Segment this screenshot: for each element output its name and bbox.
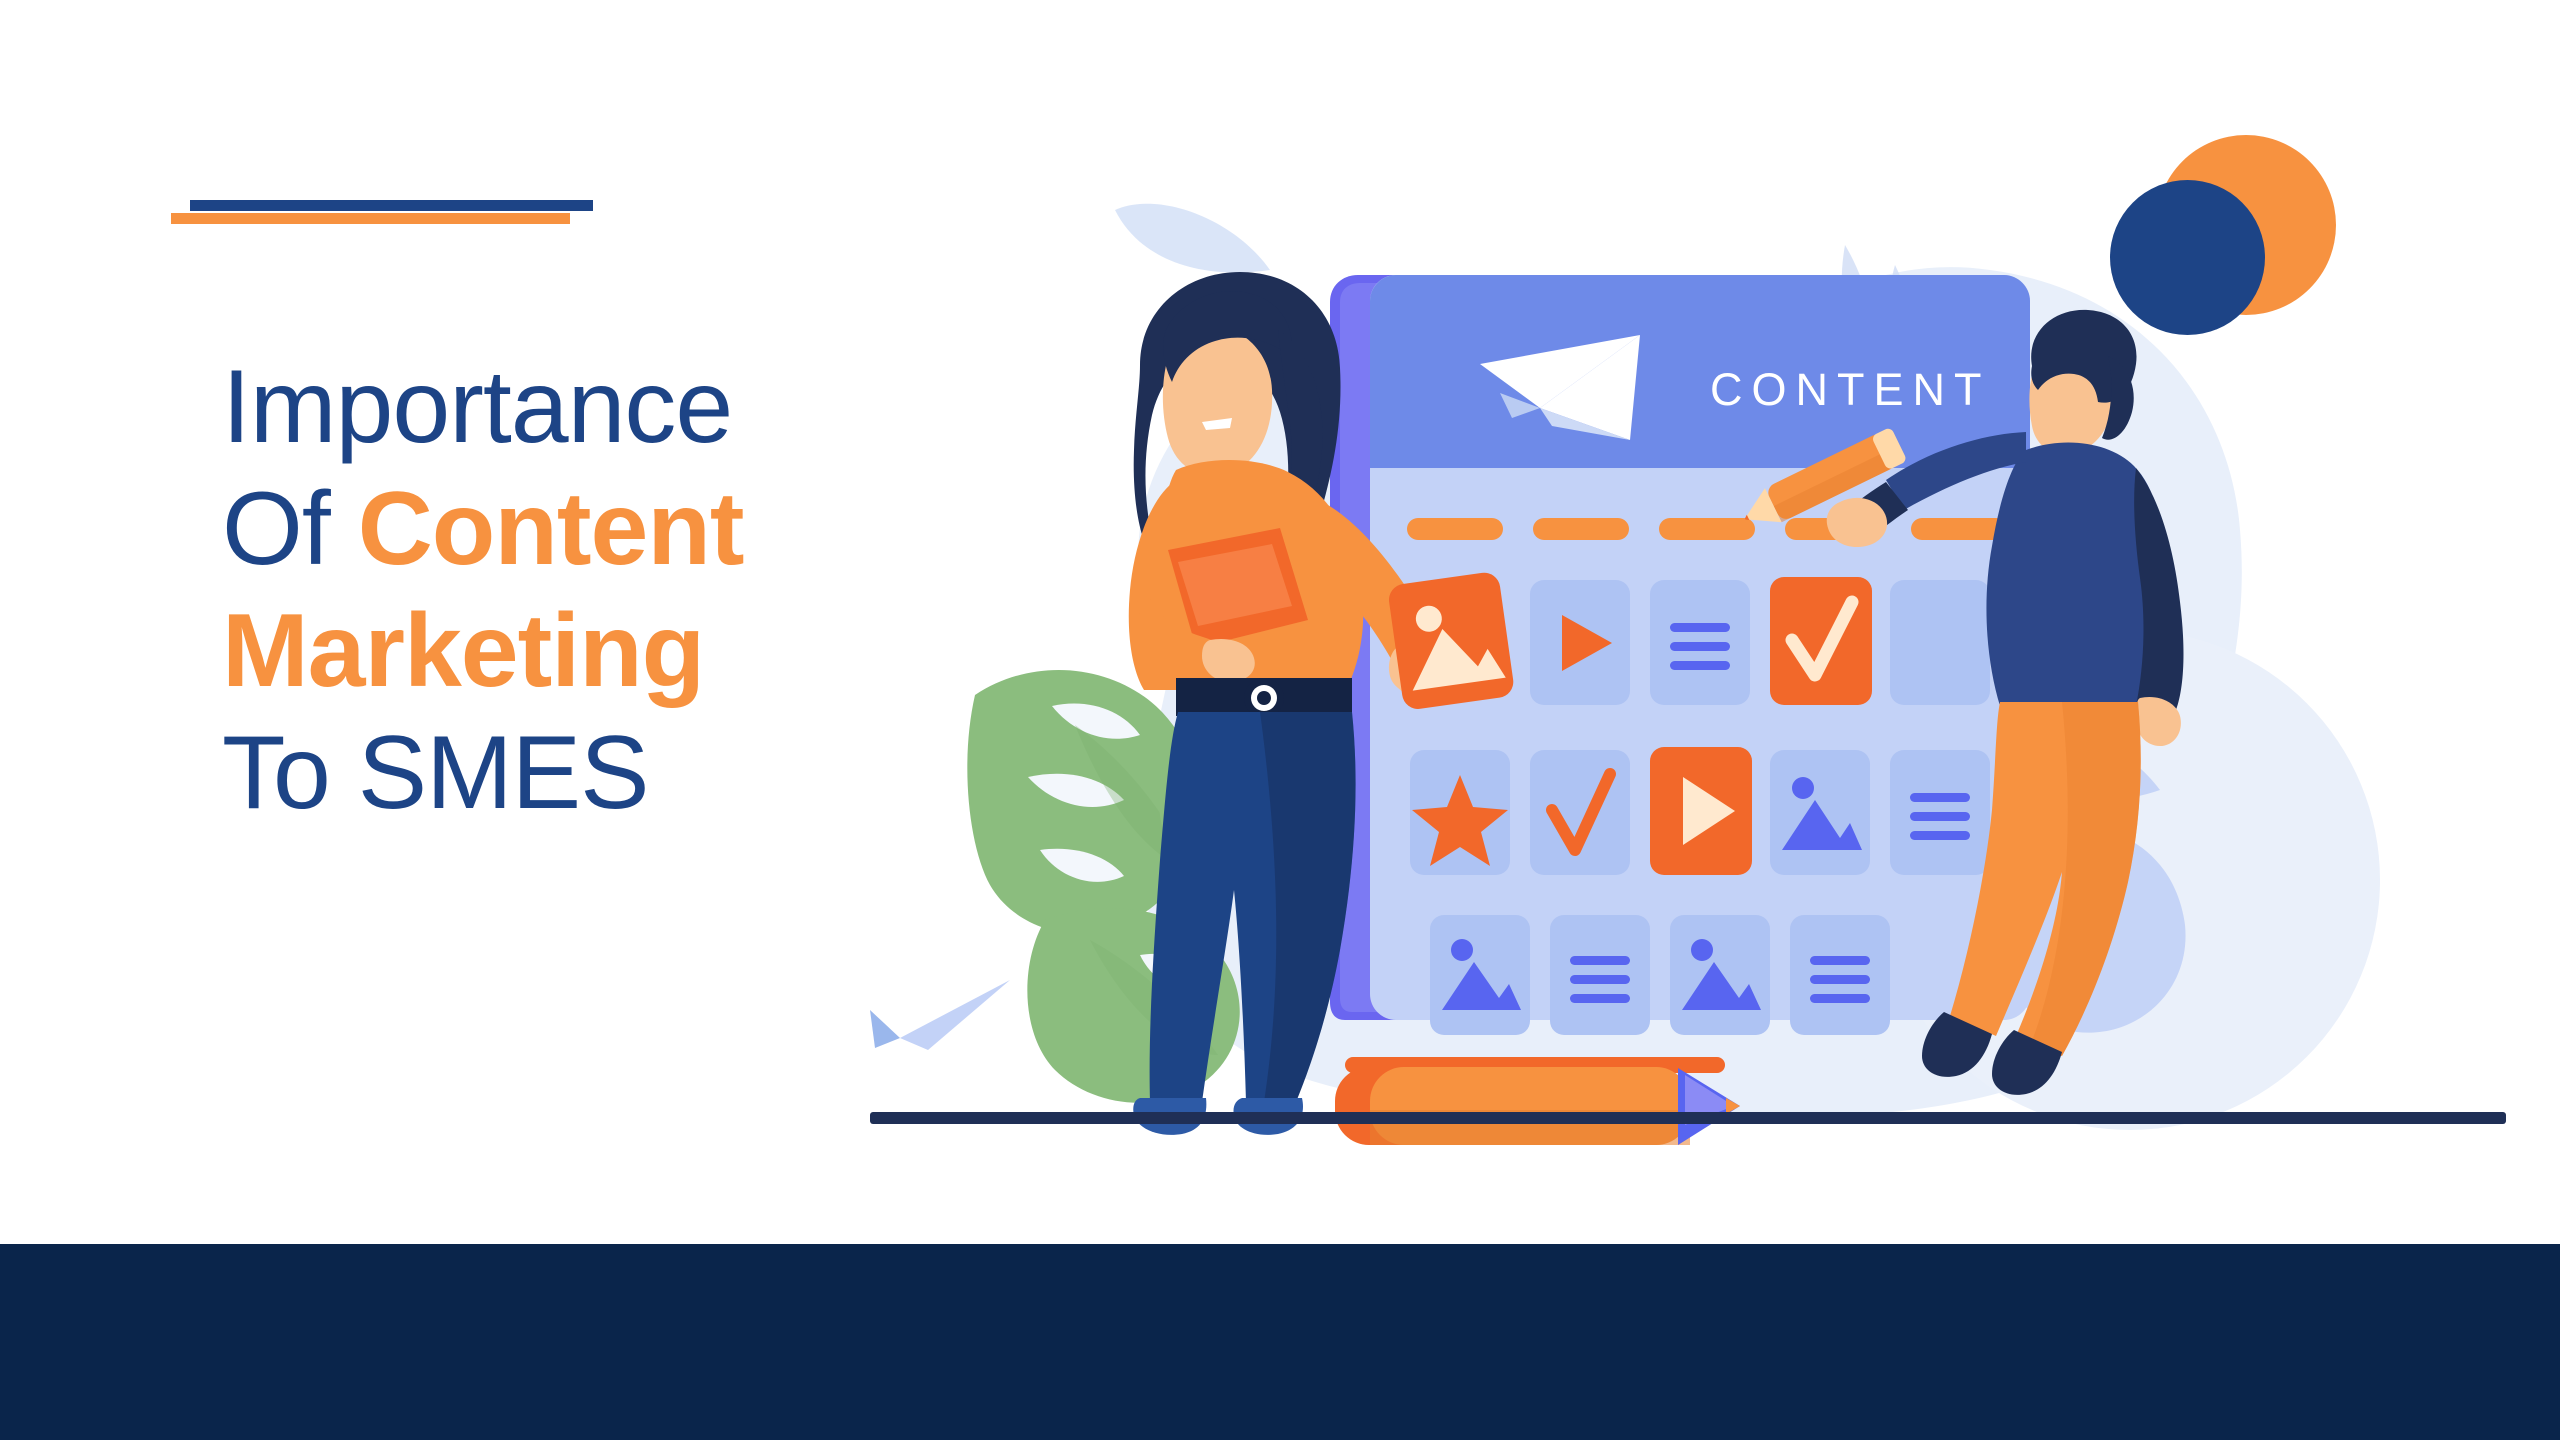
calendar-tile-check-1 xyxy=(1770,577,1872,705)
content-marketing-illustration: CONTENT xyxy=(840,150,2560,1150)
accent-rule-blue xyxy=(190,200,593,211)
calendar-tile-image-orange xyxy=(1387,571,1515,711)
title-line-2-accent: Content xyxy=(358,471,744,587)
calendar-tile-image-2 xyxy=(1430,915,1530,1035)
calendar-tile-image-1 xyxy=(1770,750,1870,875)
calendar-tile-play-2 xyxy=(1650,747,1752,875)
calendar-tile-image-3 xyxy=(1670,915,1770,1035)
calendar-tile-lines-4 xyxy=(1790,915,1890,1035)
calendar-tile-blank-1 xyxy=(1890,580,1990,705)
calendar-tile-lines-1 xyxy=(1650,580,1750,705)
bottom-navy-band xyxy=(0,1244,2560,1440)
paper-plane-small-icon xyxy=(870,980,1010,1050)
title-line-2-prefix: Of xyxy=(222,471,358,587)
calendar-tile-check-2 xyxy=(1530,750,1630,875)
title-line-3-text: Marketing xyxy=(222,593,704,709)
calendar-tile-lines-3 xyxy=(1550,915,1650,1035)
decor-leaf-pale-2 xyxy=(1115,204,1270,273)
calendar-tile-lines-2 xyxy=(1890,750,1990,875)
title-line-1-text: Importance xyxy=(222,349,732,465)
title-line-4-text: To SMES xyxy=(222,715,648,831)
ground-line xyxy=(870,1112,2506,1124)
board-title-text: CONTENT xyxy=(1710,364,1991,415)
calendar-tile-star xyxy=(1410,750,1510,875)
accent-rule-orange xyxy=(171,213,570,224)
calendar-tile-play-1 xyxy=(1530,580,1630,705)
slide-canvas: Importance Of Content Marketing To SMES xyxy=(0,0,2560,1440)
pencil-ground-icon xyxy=(1335,1057,1740,1145)
calendar-day-headers xyxy=(1407,518,2007,540)
